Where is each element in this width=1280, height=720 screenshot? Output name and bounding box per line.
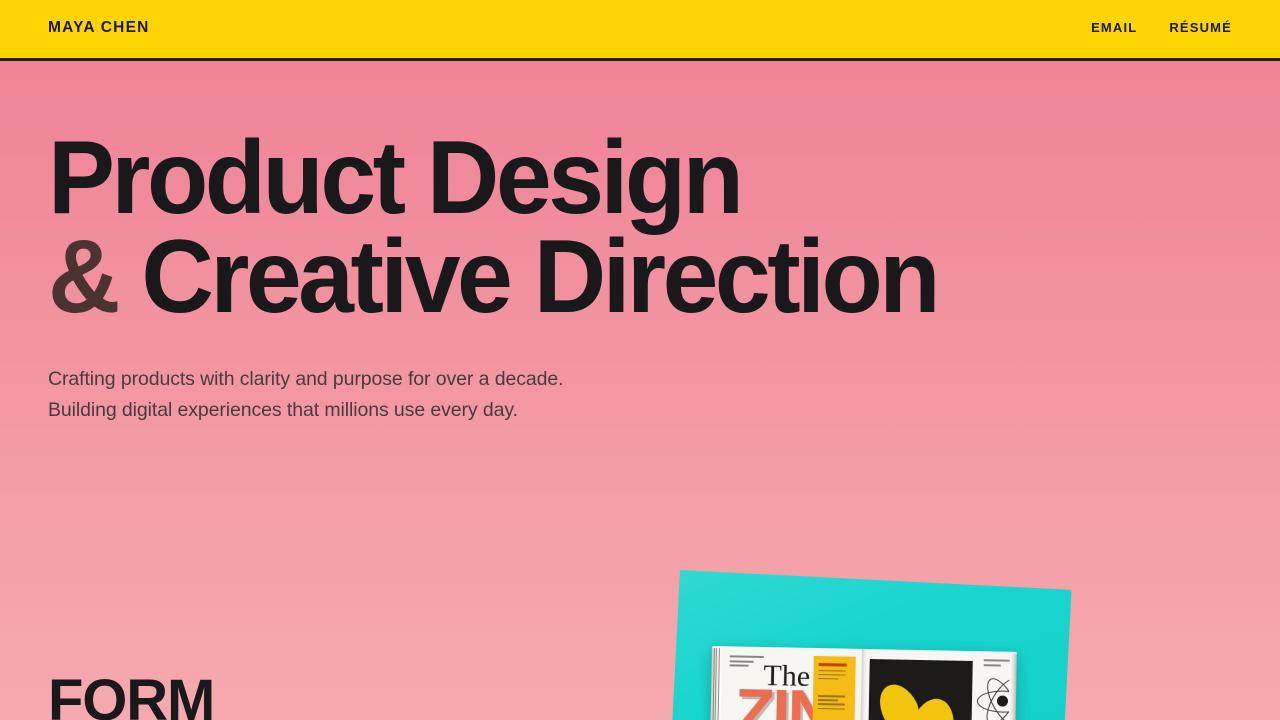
nav-link-email[interactable]: EMAIL bbox=[1091, 21, 1137, 34]
hero-subtitle-line-1: Crafting products with clarity and purpo… bbox=[48, 364, 1232, 396]
hero-title-line-2-text bbox=[117, 219, 141, 335]
site-header: MAYA CHEN EMAIL RÉSUMÉ bbox=[0, 0, 1280, 61]
hero-ampersand: & bbox=[48, 219, 117, 335]
magazine-kicker-lines bbox=[730, 655, 764, 669]
page-title: Product Design & Creative Direction bbox=[48, 129, 1191, 328]
magazine-outer-edge bbox=[1007, 654, 1016, 720]
magazine-black-panel bbox=[868, 659, 973, 720]
hero-title-line-2-rest: Creative Direction bbox=[141, 219, 937, 335]
page-edge-stack bbox=[710, 648, 722, 720]
magazine-left-page: The ZIN bbox=[710, 646, 862, 720]
section-heading-form: FORM bbox=[48, 672, 214, 720]
page-canvas: MAYA CHEN EMAIL RÉSUMÉ Product Design & … bbox=[0, 0, 1280, 720]
brand-logo[interactable]: MAYA CHEN bbox=[48, 20, 150, 36]
magazine-spread-photo: The ZIN bbox=[710, 646, 1017, 720]
hero-title-line-2: & Creative Direction bbox=[48, 228, 1191, 327]
magazine-yellow-sidebar bbox=[812, 656, 856, 720]
magazine-right-page bbox=[859, 649, 1016, 720]
hero-section: Product Design & Creative Direction Craf… bbox=[0, 61, 1280, 427]
showcase-artwork[interactable]: The ZIN bbox=[676, 560, 1076, 720]
hero-subtitle: Crafting products with clarity and purpo… bbox=[48, 364, 1232, 428]
hero-title-line-1: Product Design bbox=[48, 129, 1191, 228]
magazine-folio-lines bbox=[984, 659, 1010, 668]
main-navigation: EMAIL RÉSUMÉ bbox=[1091, 21, 1232, 34]
hero-subtitle-line-2: Building digital experiences that millio… bbox=[48, 395, 1232, 427]
nav-link-resume[interactable]: RÉSUMÉ bbox=[1169, 21, 1232, 34]
